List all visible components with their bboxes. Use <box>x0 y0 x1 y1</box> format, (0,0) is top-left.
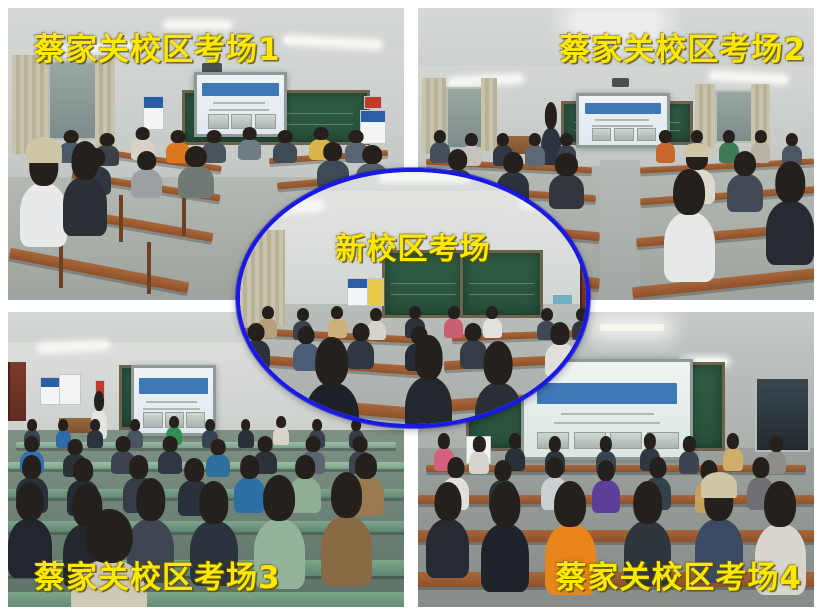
slide-thumbnail <box>143 412 162 428</box>
projection-screen <box>194 72 287 136</box>
slide-thumbnail <box>592 128 611 141</box>
aisle <box>600 160 640 300</box>
photo-collage: 蔡家关校区考场1 <box>0 0 822 615</box>
wall-notice <box>364 96 382 110</box>
projector <box>612 78 629 87</box>
student <box>679 451 699 475</box>
student <box>426 519 470 578</box>
ceiling-lamp <box>600 324 663 331</box>
wall-poster <box>59 374 81 406</box>
wall-poster <box>143 96 165 130</box>
ceiling-lamp <box>382 174 467 180</box>
wall-poster <box>367 278 385 305</box>
student <box>131 169 163 198</box>
tile-caption-bottom-right: 蔡家关校区考场4 <box>555 552 802 597</box>
tile-caption-top-left: 蔡家关校区考场1 <box>34 24 281 69</box>
student <box>367 321 386 341</box>
student <box>483 318 502 338</box>
tile-caption-top-right: 蔡家关校区考场2 <box>559 24 806 69</box>
student <box>766 451 786 475</box>
student <box>63 177 107 235</box>
window <box>715 90 755 144</box>
student <box>475 383 522 428</box>
desk <box>418 530 814 542</box>
student <box>545 343 576 377</box>
student <box>87 430 103 448</box>
student <box>766 201 814 265</box>
student <box>321 516 372 587</box>
student <box>592 480 620 512</box>
door <box>8 362 26 421</box>
slide-thumbnail <box>610 432 642 449</box>
student <box>405 377 452 428</box>
window <box>48 61 100 141</box>
slide-thumbnail <box>186 412 205 428</box>
wall-poster <box>360 110 386 144</box>
wall-poster <box>40 377 62 406</box>
window-curtain <box>236 230 285 326</box>
slide-thumbnail <box>637 128 656 141</box>
window-curtain <box>481 78 497 151</box>
student <box>723 448 743 472</box>
projection-screen <box>576 93 669 149</box>
slide-thumbnail <box>614 128 633 141</box>
student <box>273 427 289 445</box>
student <box>273 142 297 162</box>
student <box>656 142 676 162</box>
student <box>238 139 262 159</box>
wall-sign <box>553 295 572 303</box>
student <box>347 340 374 368</box>
inset-caption: 新校区考场 <box>336 224 491 268</box>
window <box>755 377 810 452</box>
student <box>20 183 68 247</box>
student <box>206 454 230 478</box>
slide-title-bar <box>139 378 209 394</box>
slide-thumbnail <box>255 114 276 129</box>
student <box>243 340 270 368</box>
student <box>158 451 182 475</box>
wall-poster <box>347 278 368 305</box>
desk-leg <box>119 195 123 242</box>
slide-title-bar <box>202 83 279 96</box>
student <box>460 340 487 368</box>
student <box>469 451 489 475</box>
student <box>234 477 266 512</box>
student <box>444 318 463 338</box>
desk-leg <box>147 242 151 295</box>
student <box>727 174 763 212</box>
student <box>430 142 450 162</box>
student <box>481 524 529 592</box>
student <box>238 430 254 448</box>
tile-caption-bottom-left: 蔡家关校区考场3 <box>34 552 281 597</box>
classroom-scene-center <box>236 168 590 428</box>
student <box>328 318 347 338</box>
student <box>525 145 545 165</box>
slide-thumbnail <box>208 114 229 129</box>
center-oval-inset[interactable]: 新校区考场 <box>236 168 590 428</box>
student <box>664 212 715 282</box>
slide-title-bar <box>585 103 662 114</box>
student <box>178 166 214 198</box>
